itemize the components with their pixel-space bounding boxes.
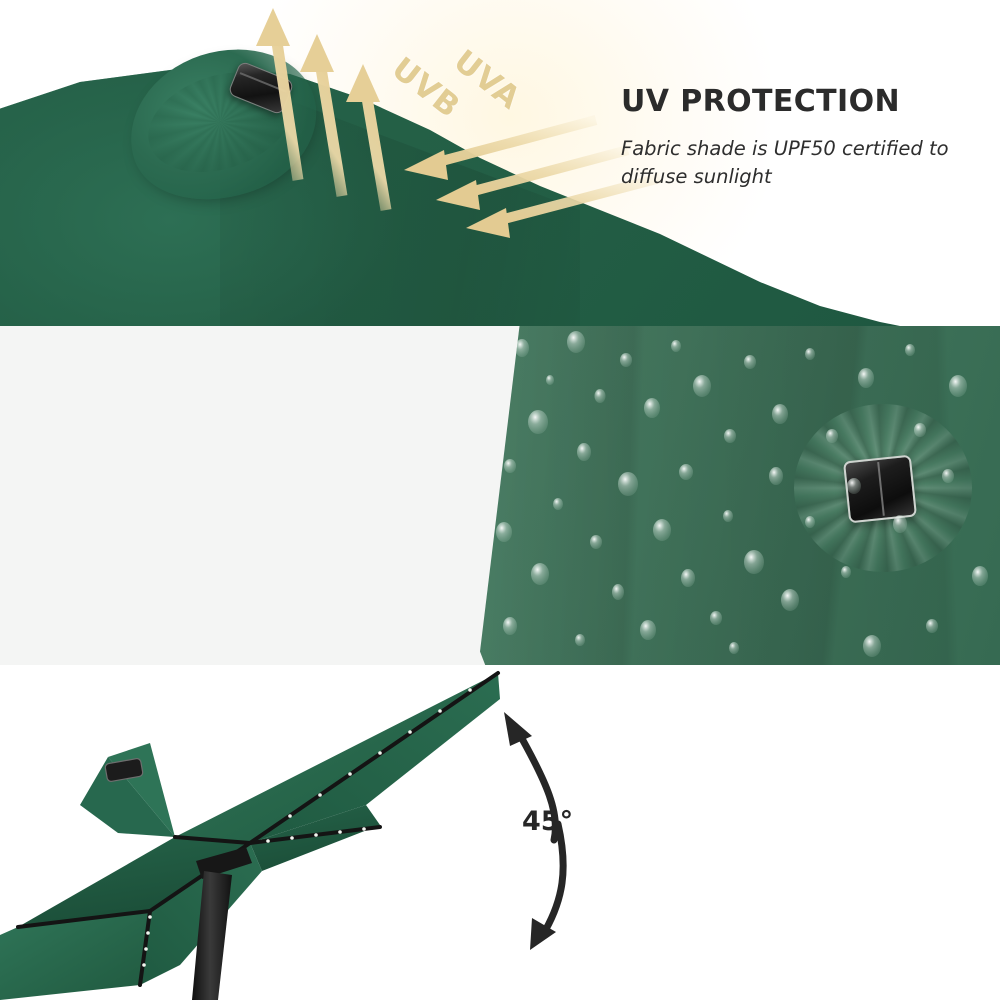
reflected-ray-2 xyxy=(300,34,342,196)
section-uv-protection: UVB UVA UV PROTECTION Fabric shade is UP… xyxy=(0,0,1000,326)
infographic-page: UVB UVA UV PROTECTION Fabric shade is UP… xyxy=(0,0,1000,1000)
reflected-ray-3 xyxy=(346,64,386,210)
uv-text-block: UV PROTECTION Fabric shade is UPF50 cert… xyxy=(621,84,951,191)
tilted-umbrella-photo xyxy=(0,665,520,1000)
arrow-head-up xyxy=(504,712,532,746)
wet-canopy-photo xyxy=(480,326,1000,665)
water-droplets xyxy=(480,326,1000,665)
section-waterproof: WATERPROOF Heauy-duty polyeater fabric xyxy=(0,326,1000,665)
reflected-ray-1 xyxy=(256,8,298,180)
reflected-ray-group xyxy=(256,8,386,210)
uv-subtitle: Fabric shade is UPF50 certified to diffu… xyxy=(621,135,951,191)
canopy-panel-5 xyxy=(0,911,150,1000)
angle-value-label: 45° xyxy=(522,806,573,837)
uv-title: UV PROTECTION xyxy=(621,84,951,119)
